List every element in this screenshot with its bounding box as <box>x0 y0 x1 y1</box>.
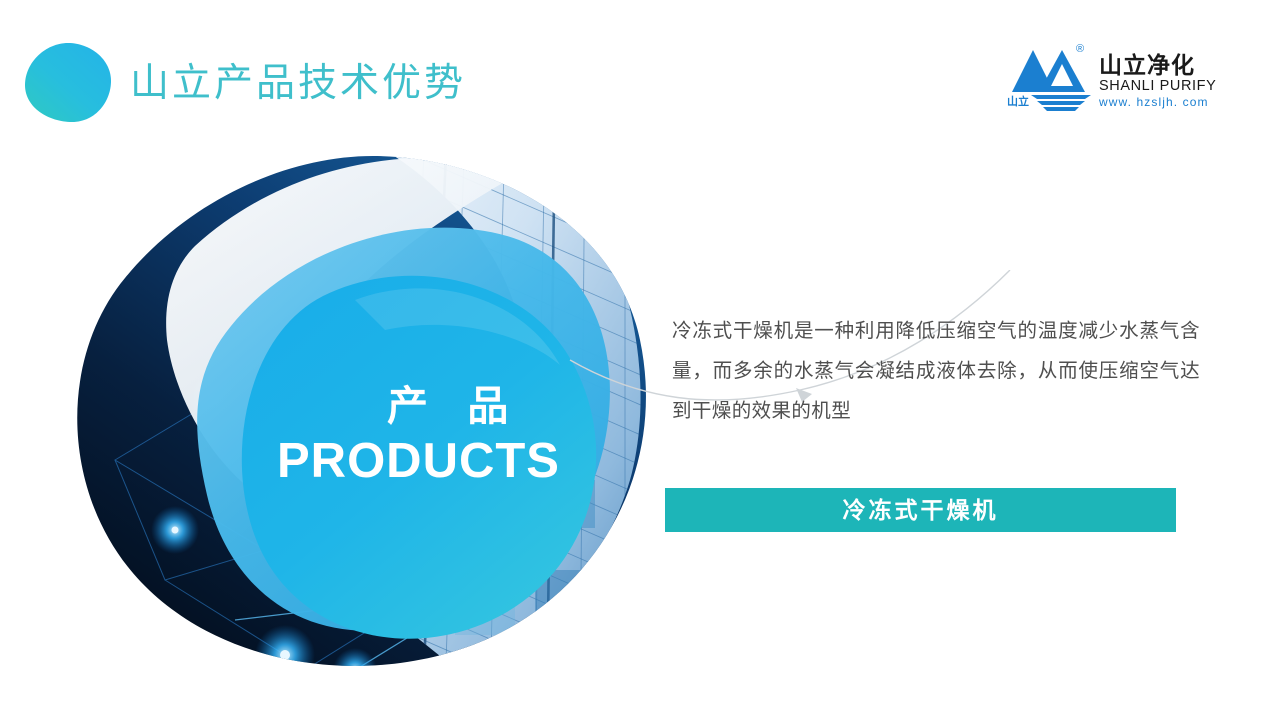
page-title: 山立产品技术优势 <box>130 58 466 110</box>
logo-company-cn: 山立净化 <box>1099 52 1225 78</box>
registered-trademark-icon: ® <box>1076 44 1084 55</box>
logo-mark-caption: 山立 <box>1007 96 1029 108</box>
header-blob-icon <box>24 42 112 124</box>
slide-root: 山立产品技术优势 ® 山立 山立净化 SHANLI PURIFY www. hz… <box>0 0 1280 720</box>
logo-company-en: SHANLI PURIFY <box>1099 78 1225 95</box>
product-description: 冷冻式干燥机是一种利用降低压缩空气的温度减少水蒸气含量，而多余的水蒸气会凝结成液… <box>672 311 1200 431</box>
logo-wordmark: 山立净化 SHANLI PURIFY www. hzsljh. com <box>1099 52 1225 110</box>
company-logo[interactable]: ® 山立 山立净化 SHANLI PURIFY www. hzsljh. com <box>1007 36 1222 122</box>
product-name-banner[interactable]: 冷冻式干燥机 <box>665 488 1176 532</box>
logo-website: www. hzsljh. com <box>1099 95 1225 110</box>
product-name-banner-label: 冷冻式干燥机 <box>843 497 999 523</box>
products-hero-artwork: 产 品 PRODUCTS <box>55 150 680 675</box>
